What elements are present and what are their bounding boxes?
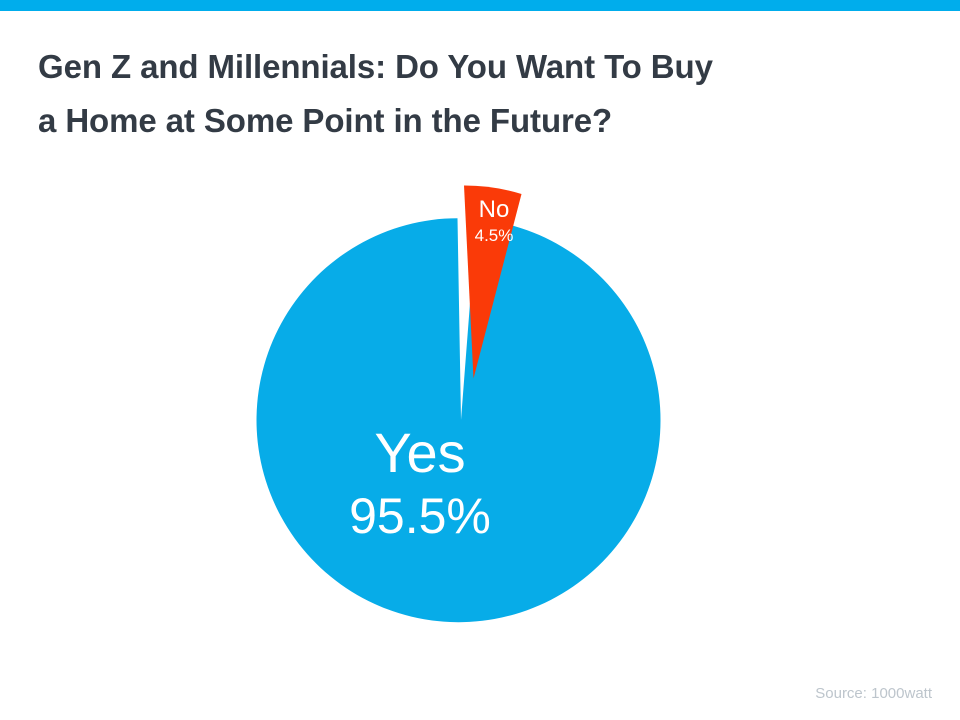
pie-chart: Yes 95.5% No 4.5% — [0, 150, 960, 650]
page-title-line-2: a Home at Some Point in the Future? — [38, 94, 928, 148]
pie-slice-yes[interactable] — [257, 218, 661, 622]
page-title: Gen Z and Millennials: Do You Want To Bu… — [38, 40, 928, 148]
slide-canvas: Gen Z and Millennials: Do You Want To Bu… — [0, 0, 960, 720]
top-accent-bar — [0, 0, 960, 11]
pie-chart-svg — [0, 150, 960, 650]
page-title-line-1: Gen Z and Millennials: Do You Want To Bu… — [38, 40, 928, 94]
source-attribution: Source: 1000watt — [815, 685, 932, 702]
